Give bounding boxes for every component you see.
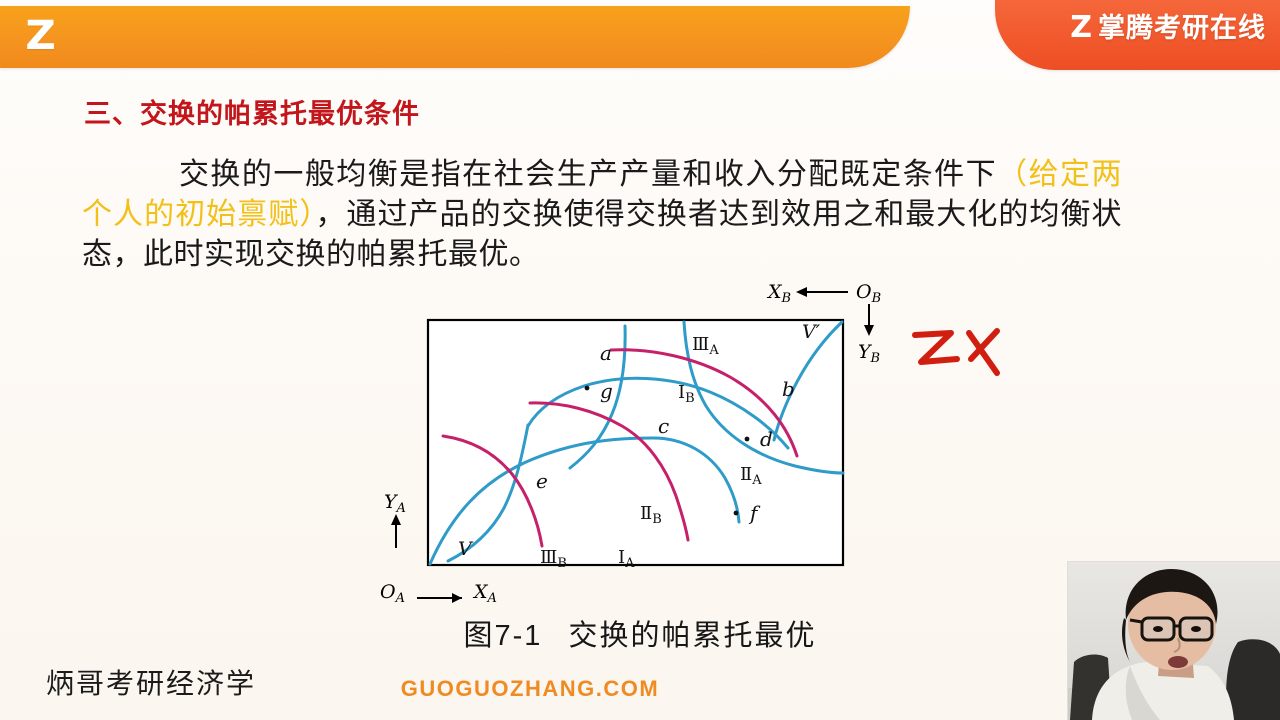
curve-label-V: V: [458, 538, 474, 560]
point-label-d: d: [760, 427, 773, 451]
axis-label-origin-a: OA: [380, 581, 405, 606]
red-stroke-x1: [969, 333, 997, 373]
edgeworth-box-svg: X_A --> OA XA YA OB XB YB ⅠA: [370, 278, 910, 608]
webcam-eye-left: [1153, 626, 1163, 632]
webcam-overlay[interactable]: [1068, 562, 1280, 720]
x-axis-b-arrowhead: [796, 287, 807, 297]
webcam-video-frame: [1068, 562, 1280, 720]
paragraph-part-1: 交换的一般均衡是指在社会生产产量和收入分配既定条件下: [178, 158, 997, 191]
webcam-eye-right: [1191, 626, 1201, 632]
axis-label-origin-b: OB: [856, 281, 881, 306]
z-logo-icon: Z: [25, 16, 53, 56]
webcam-chair: [1226, 639, 1280, 720]
brand-name: 掌腾考研在线: [1098, 15, 1266, 42]
axis-label-y-b: YB: [858, 341, 880, 366]
axis-label-x-b: XB: [766, 281, 791, 306]
header-bar: Z Z 掌腾考研在线: [0, 0, 1280, 78]
point-label-b: b: [782, 377, 795, 401]
red-mark-svg: [905, 315, 1025, 395]
edgeworth-box-figure: X_A --> OA XA YA OB XB YB ⅠA: [370, 278, 910, 608]
curve-label-V-prime: V′: [802, 321, 821, 343]
webcam-mouth: [1168, 656, 1188, 668]
point-label-g: g: [600, 379, 613, 403]
slide-canvas: Z Z 掌腾考研在线 三、交换的帕累托最优条件 交换的一般均衡是指在社会生产产量…: [0, 0, 1280, 720]
brand-logo: Z 掌腾考研在线: [1070, 13, 1266, 43]
page-title: 三、交换的帕累托最优条件: [84, 92, 420, 131]
point-dot-f: [734, 511, 739, 516]
footer-website: GUOGUOZHANG.COM: [0, 676, 1060, 702]
point-dot-d: [745, 437, 750, 442]
header-right-band: Z 掌腾考研在线: [995, 0, 1280, 70]
y-axis-b-arrowhead: [864, 325, 874, 336]
red-stroke-x2: [971, 331, 997, 359]
header-left-band: [0, 6, 910, 68]
red-handwriting-annotation: [905, 315, 1025, 395]
point-label-c: c: [658, 414, 669, 438]
point-label-e: e: [536, 469, 548, 493]
axis-label-x-a: XA: [472, 581, 497, 606]
body-paragraph: 交换的一般均衡是指在社会生产产量和收入分配既定条件下（给定两个人的初始禀赋），通…: [82, 155, 1122, 275]
point-dot-g: [585, 386, 590, 391]
point-label-a: a: [600, 341, 612, 365]
red-stroke-z: [915, 333, 957, 362]
figure-caption-title: 交换的帕累托最优: [569, 620, 817, 652]
axis-label-y-a: YA: [384, 491, 406, 516]
webcam-scene: [1068, 562, 1280, 720]
x-axis-a-arrowhead: [452, 593, 462, 603]
figure-caption-number: 图7-1: [463, 620, 542, 652]
brand-z-icon: Z: [1070, 13, 1091, 43]
